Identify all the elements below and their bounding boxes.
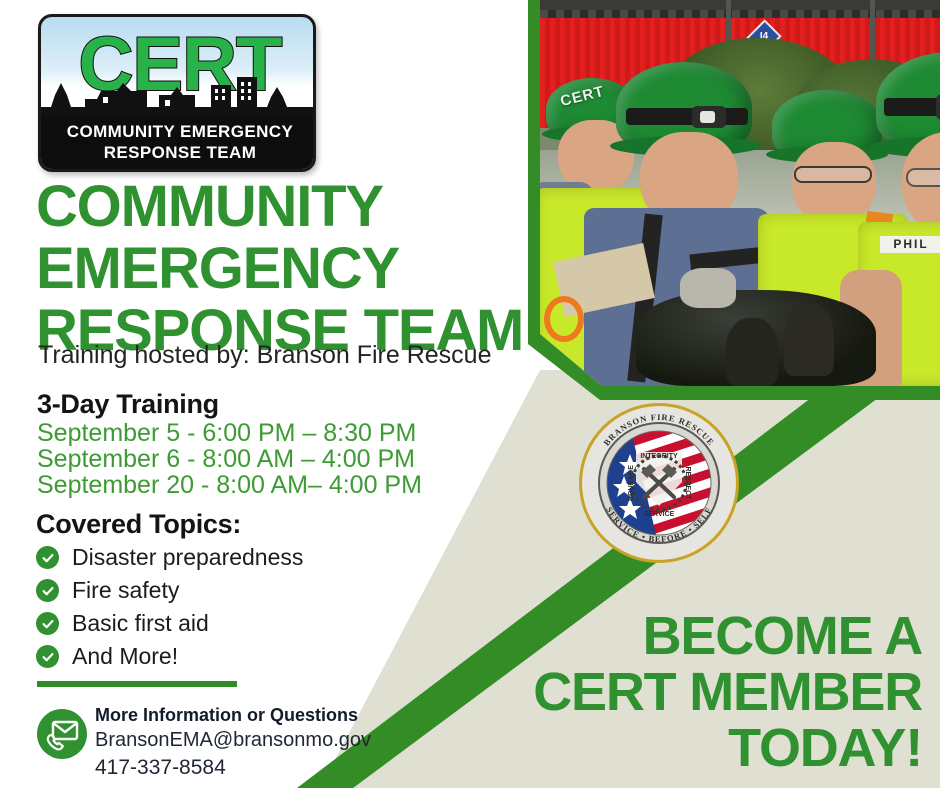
photo-orange-ring [544,296,584,342]
training-date-3: September 20 - 8:00 AM– 4:00 PM [37,472,422,498]
contact-info: More Information or Questions BransonEMA… [95,704,371,783]
check-circle-icon [36,612,59,635]
topic-label: And More! [72,645,178,668]
check-circle-icon [36,645,59,668]
cert-logo-skyline [41,73,316,121]
list-item: Basic first aid [36,607,303,640]
cert-logo-bar: COMMUNITY EMERGENCY RESPONSE TEAM [41,117,316,169]
contact-divider [37,681,237,687]
photo-headlamp-strap-d [884,98,940,116]
cert-logo-line2: RESPONSE TEAM [41,142,316,163]
badge-value-respect: RESPECT [684,466,691,500]
cta-line-3: TODAY! [470,720,922,776]
list-item: Fire safety [36,574,303,607]
topics-section-title: Covered Topics: [36,508,241,540]
photo-headlamp-d [936,94,940,120]
topics-list: Disaster preparedness Fire safety Basic … [36,541,303,673]
badge-value-integrity: INTEGRITY [640,453,678,460]
branson-fire-rescue-badge: BRANSON FIRE RESCUE SERVICE • BEFORE • S… [578,402,740,564]
call-to-action: BECOME A CERT MEMBER TODAY! [470,608,922,776]
check-circle-icon [36,546,59,569]
list-item: Disaster preparedness [36,541,303,574]
photo-safety-goggles-d [906,168,940,187]
envelope-phone-icon [37,709,87,759]
badge-value-courage: COURAGE [628,465,635,501]
photo-vest-name-tag: PHIL [880,236,940,253]
training-dates-list: September 5 - 6:00 PM – 8:30 PM Septembe… [37,420,422,498]
photo-boot-right [784,304,834,376]
topic-label: Basic first aid [72,612,209,635]
contact-heading: More Information or Questions [95,704,371,727]
cta-line-1: BECOME A [470,608,922,664]
photo-headlamp-lens-b [700,111,715,123]
training-date-2: September 6 - 8:00 AM – 4:00 PM [37,446,422,472]
subtitle-hosted-by: Training hosted by: Branson Fire Rescue [38,340,491,370]
topic-label: Fire safety [72,579,179,602]
headline-line-1: COMMUNITY [36,176,536,238]
contact-phone[interactable]: 417-337-8584 [95,753,371,783]
cert-logo-line1: COMMUNITY EMERGENCY [41,121,316,142]
cta-line-2: CERT MEMBER [470,664,922,720]
list-item: And More! [36,640,303,673]
training-date-1: September 5 - 6:00 PM – 8:30 PM [37,420,422,446]
cert-logo: CERT COMMUNITY EMERGENCY RESPONSE TEAM [38,14,316,172]
headline-line-2: EMERGENCY [36,238,536,300]
contact-email[interactable]: BransonEMA@bransonmo.gov [95,727,371,753]
photo-boot-left [726,318,778,386]
training-section-title: 3-Day Training [37,388,219,420]
badge-value-service: SERVICE [644,511,675,518]
photo-headlamp-strap-b [626,108,748,125]
photo-eyeglasses-c [794,166,872,183]
check-circle-icon [36,579,59,602]
topic-label: Disaster preparedness [72,546,303,569]
training-photo: I4 CERT PHIL [540,0,940,386]
page-title: COMMUNITY EMERGENCY RESPONSE TEAM [36,176,536,362]
photo-work-glove [680,268,736,308]
cert-training-flyer: I4 CERT PHIL [0,0,940,788]
